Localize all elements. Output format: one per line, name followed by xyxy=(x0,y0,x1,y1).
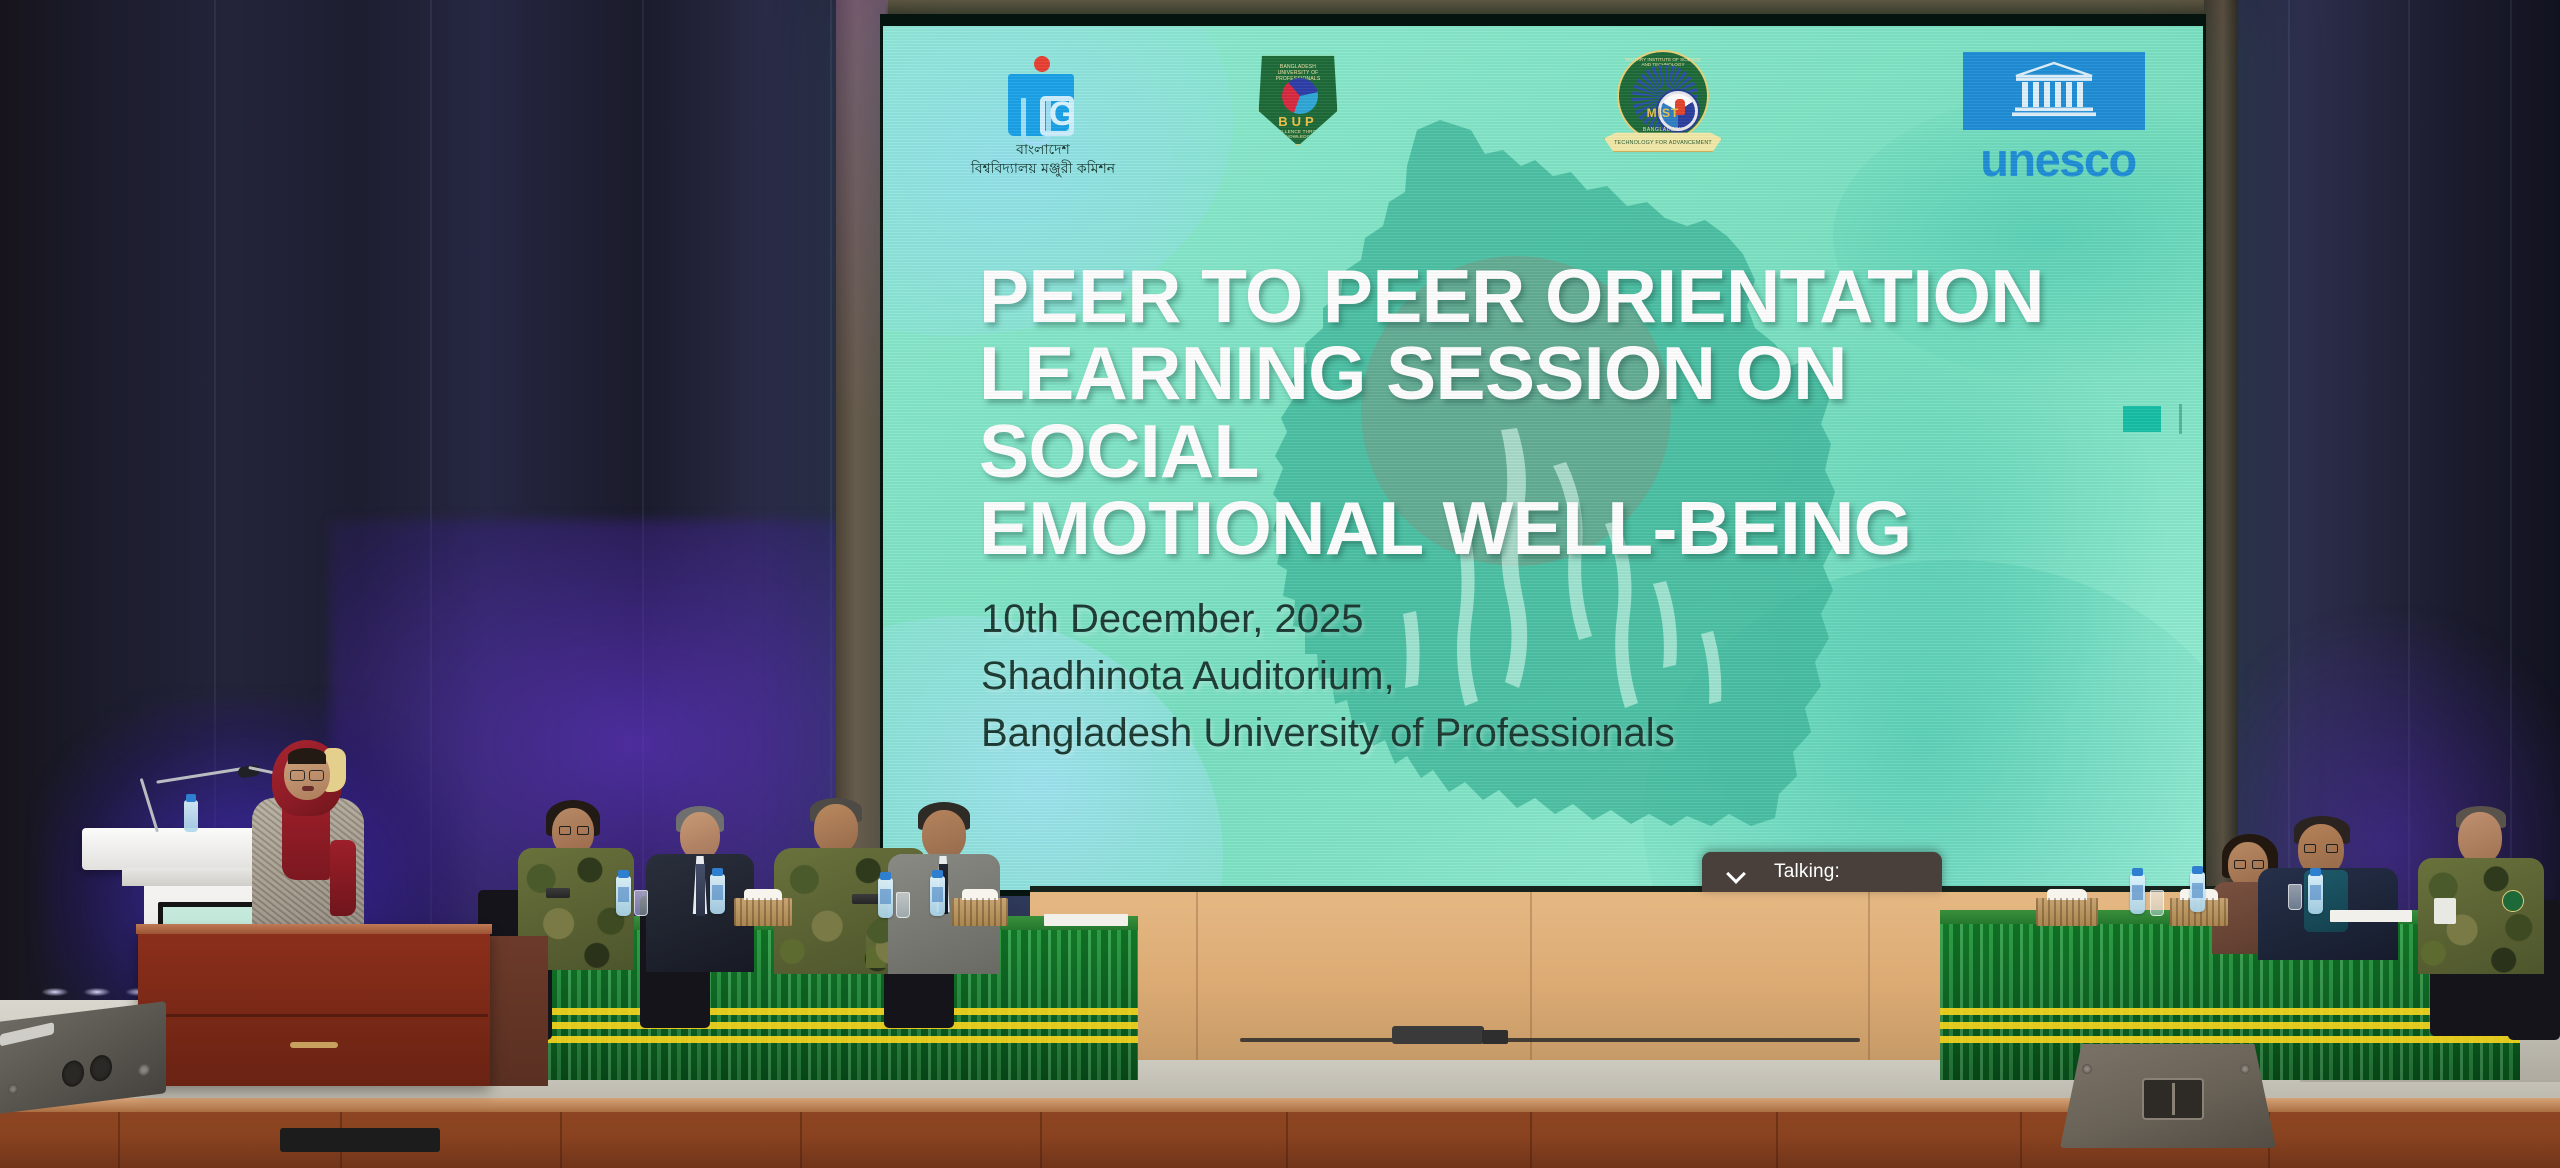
mist-gear-icon xyxy=(1632,65,1698,131)
wooden-desk xyxy=(138,930,490,1086)
water-bottle xyxy=(2308,874,2323,914)
ugc-mark-icon xyxy=(1000,58,1086,136)
id-card xyxy=(2434,898,2456,924)
drinking-glass xyxy=(896,892,910,918)
panelist-senior-army-officer xyxy=(2418,806,2546,974)
mist-letters: MIST xyxy=(1619,106,1707,120)
drawer-handle xyxy=(290,1042,338,1048)
slide-title-line-3: EMOTIONAL WELL-BEING xyxy=(979,490,2099,567)
panelist-male-navy-suit xyxy=(2258,816,2398,958)
slide-logo-row: বাংলাদেশ বিশ্ববিদ্যালয় মঞ্জুরী কমিশন BA… xyxy=(883,48,2203,168)
floor-equipment-case xyxy=(280,1128,440,1152)
bup-shield-icon: BANGLADESH UNIVERSITY OF PROFESSIONALS B… xyxy=(1257,54,1339,146)
floor-equipment-box-small xyxy=(1482,1030,1508,1044)
water-bottle xyxy=(710,874,725,914)
slide-subtitle-date: 10th December, 2025 xyxy=(981,591,1761,648)
drinking-glass xyxy=(634,890,648,916)
mist-ribbon: TECHNOLOGY FOR ADVANCEMENT xyxy=(1604,130,1722,152)
unesco-logo: unesco xyxy=(1963,52,2153,184)
ugc-caption-line2: বিশ্ববিদ্যালয় মঞ্জুরী কমিশন xyxy=(943,160,1143,179)
water-bottle xyxy=(878,878,893,918)
floor-cable xyxy=(1240,1038,1860,1042)
auditorium-screenshot: বাংলাদেশ বিশ্ববিদ্যালয় মঞ্জুরী কমিশন BA… xyxy=(0,0,2560,1168)
ugc-g-glyph xyxy=(1040,96,1074,136)
slide-subtitle-venue: Shadhinota Auditorium, xyxy=(981,648,1761,705)
tissue-box xyxy=(734,898,792,926)
panelist-male-dark-suit xyxy=(646,806,754,972)
stage-monitor-speaker-right xyxy=(2060,1044,2276,1148)
bup-tricolor-circle-icon xyxy=(1282,78,1318,114)
ugc-red-dot-icon xyxy=(1034,56,1050,72)
document-paper xyxy=(1044,914,1128,926)
ugc-logo: বাংলাদেশ বিশ্ববিদ্যালয় মঞ্জুরী কমিশন xyxy=(943,58,1143,179)
necktie xyxy=(696,864,705,916)
ugc-blue-block-icon xyxy=(1008,74,1074,136)
tissue-box xyxy=(2036,898,2098,926)
mist-logo: MILITARY INSTITUTE OF SCIENCE AND TECHNO… xyxy=(1603,50,1723,152)
ceiling-beam xyxy=(880,0,2210,14)
temple-icon xyxy=(2009,61,2099,119)
slide-subtitle: 10th December, 2025 Shadhinota Auditoriu… xyxy=(981,591,1761,761)
slide-accent-square xyxy=(2123,406,2161,432)
mist-country: BANGLADESH xyxy=(1619,127,1707,133)
water-bottle xyxy=(184,800,198,832)
chevron-down-icon[interactable] xyxy=(1728,867,1748,878)
water-bottle xyxy=(2190,872,2205,912)
tissue-box xyxy=(952,898,1008,926)
slide-canvas: বাংলাদেশ বিশ্ববিদ্যালয় মঞ্জুরী কমিশন BA… xyxy=(883,26,2203,890)
floor-equipment-box xyxy=(1392,1026,1484,1044)
bup-motto: EXCELLENCE THROUGH KNOWLEDGE xyxy=(1259,129,1337,139)
mist-emblem-icon: MILITARY INSTITUTE OF SCIENCE AND TECHNO… xyxy=(1617,50,1709,142)
eyeglasses-icon xyxy=(559,826,589,833)
talking-status-bar[interactable]: Talking: xyxy=(1702,852,1942,892)
slide-subtitle-institution: Bangladesh University of Professionals xyxy=(981,705,1761,762)
water-bottle xyxy=(930,876,945,916)
talking-label: Talking: xyxy=(1774,861,1840,883)
slide-title-line-1: PEER TO PEER ORIENTATION xyxy=(979,258,2099,335)
water-bottle xyxy=(616,876,631,916)
bup-logo: BANGLADESH UNIVERSITY OF PROFESSIONALS B… xyxy=(1248,54,1348,146)
bup-letters: BUP xyxy=(1259,114,1337,129)
unesco-wordmark: unesco xyxy=(1963,136,2153,184)
drinking-glass xyxy=(2288,884,2302,910)
slide-title-line-2: LEARNING SESSION ON SOCIAL xyxy=(979,335,2099,490)
water-bottle xyxy=(2130,874,2145,914)
drinking-glass xyxy=(2150,890,2164,916)
eyeglasses-icon xyxy=(290,770,324,779)
speaker-at-podium xyxy=(244,736,374,926)
slide-accent-tick xyxy=(2179,404,2182,434)
unesco-emblem-block xyxy=(1963,52,2145,130)
slide-title: PEER TO PEER ORIENTATION LEARNING SESSIO… xyxy=(979,258,2099,567)
document-paper xyxy=(2330,910,2412,922)
led-presentation-screen: বাংলাদেশ বিশ্ববিদ্যালয় মঞ্জুরী কমিশন BA… xyxy=(880,14,2206,896)
eyeglasses-icon xyxy=(2304,844,2338,851)
unit-patch-icon xyxy=(2502,890,2524,912)
screen-pillar-right xyxy=(2204,0,2238,900)
